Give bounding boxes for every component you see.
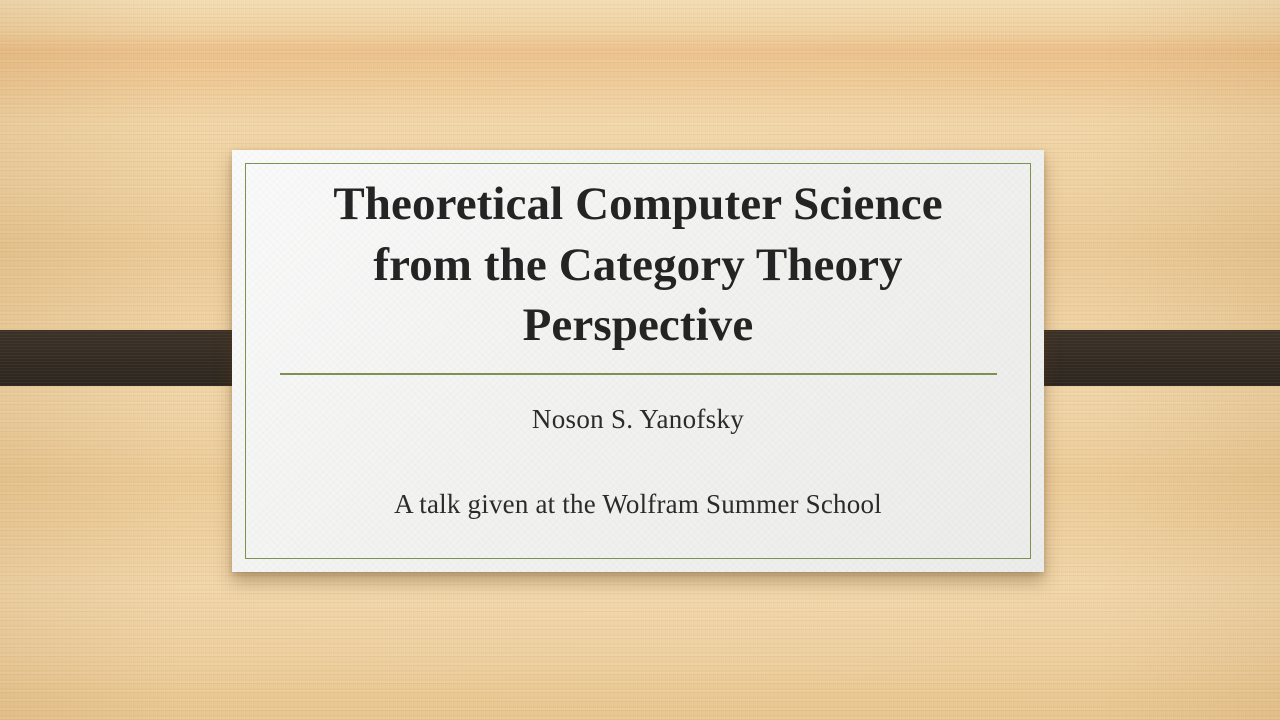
slide-author: Noson S. Yanofsky (532, 404, 744, 435)
slide-title-line-3: Perspective (284, 295, 992, 356)
decorative-ribbon-left (0, 330, 253, 386)
slide-title-line-1: Theoretical Computer Science (284, 174, 992, 235)
slide-title-line-2: from the Category Theory (284, 235, 992, 296)
title-divider (280, 373, 997, 375)
card-content: Theoretical Computer Science from the Ca… (232, 150, 1044, 572)
presentation-slide: Theoretical Computer Science from the Ca… (0, 0, 1280, 720)
slide-title: Theoretical Computer Science from the Ca… (232, 150, 1044, 356)
slide-occasion: A talk given at the Wolfram Summer Schoo… (394, 489, 882, 520)
decorative-ribbon-right (1027, 330, 1280, 386)
title-card: Theoretical Computer Science from the Ca… (232, 150, 1044, 572)
